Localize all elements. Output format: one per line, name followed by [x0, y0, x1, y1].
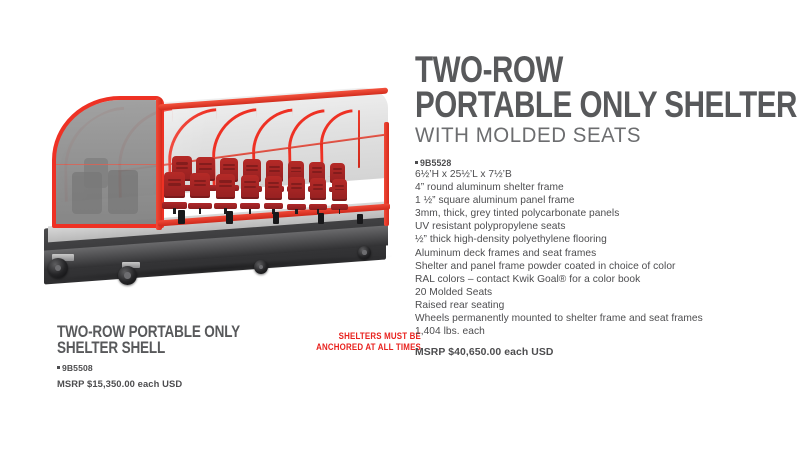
- anchoring-warning-line-2: ANCHORED AT ALL TIMES: [291, 342, 421, 353]
- seat-pedestal: [273, 212, 279, 224]
- shelter-seat: [216, 174, 235, 214]
- shell-caption-block: TWO-ROW PORTABLE ONLY SHELTER SHELL 9B55…: [57, 325, 307, 389]
- spec-item: 3mm, thick, grey tinted polycarbonate pa…: [415, 207, 790, 220]
- page-title: TWO-ROW PORTABLE ONLY SHELTER: [415, 52, 715, 122]
- shell-sku: 9B5508: [57, 363, 307, 373]
- caster-wheel: [48, 258, 68, 278]
- detail-sku: 9B5528: [415, 158, 790, 168]
- shell-caption-title-line-2: SHELTER SHELL: [57, 341, 262, 357]
- spec-item: 1,404 lbs. each: [415, 325, 790, 338]
- page-subtitle: WITH MOLDED SEATS: [415, 124, 771, 147]
- detail-sku-value: 9B5528: [420, 158, 451, 168]
- spec-item: Raised rear seating: [415, 299, 790, 312]
- shell-caption-title: TWO-ROW PORTABLE ONLY SHELTER SHELL: [57, 325, 262, 356]
- seat-pedestal: [178, 210, 185, 224]
- bullet-square-icon: [57, 366, 60, 369]
- shelter-seat: [190, 173, 210, 214]
- spec-item: 1 ½” square aluminum panel frame: [415, 194, 790, 207]
- shelter-post: [384, 122, 389, 226]
- spec-item: RAL colors – contact Kwik Goal® for a co…: [415, 273, 790, 286]
- canopy-seam-icon: [358, 110, 360, 168]
- detail-panel: TWO-ROW PORTABLE ONLY SHELTER WITH MOLDE…: [415, 52, 790, 358]
- shelter-seat: [288, 177, 305, 214]
- spec-item: ½” thick high-density polyethylene floor…: [415, 233, 790, 246]
- spec-item: 6½’H x 25½’L x 7½’B: [415, 168, 790, 181]
- anchoring-warning: SHELTERS MUST BE ANCHORED AT ALL TIMES: [291, 331, 421, 352]
- anchoring-warning-line-1: SHELTERS MUST BE: [291, 331, 421, 342]
- spec-item: Shelter and panel frame powder coated in…: [415, 260, 790, 273]
- spec-item: 20 Molded Seats: [415, 286, 790, 299]
- shelter-seat: [164, 172, 185, 214]
- seat-pedestal: [226, 211, 233, 224]
- seat-pedestal: [357, 214, 363, 224]
- spec-list: 6½’H x 25½’L x 7½’B 4” round aluminum sh…: [415, 168, 790, 338]
- product-photo: SHELTERS MUST BE ANCHORED AT ALL TIMES: [18, 88, 408, 288]
- spec-item: Aluminum deck frames and seat frames: [415, 247, 790, 260]
- shelter-shell: [44, 94, 392, 234]
- shelter-seat: [310, 178, 326, 214]
- bullet-square-icon: [415, 161, 418, 164]
- caster-wheel: [118, 266, 137, 285]
- caster-wheel: [358, 246, 371, 259]
- page-title-line-2: PORTABLE ONLY SHELTER: [415, 87, 715, 122]
- shelter-seat: [265, 176, 282, 214]
- spec-item: UV resistant polypropylene seats: [415, 220, 790, 233]
- shelter-seat: [241, 175, 259, 214]
- product-spec-page: SHELTERS MUST BE ANCHORED AT ALL TIMES T…: [0, 0, 800, 450]
- shelter-post: [156, 98, 162, 230]
- shell-sku-value: 9B5508: [62, 363, 93, 373]
- caster-wheel: [254, 260, 268, 274]
- shelter-seat: [332, 179, 347, 214]
- detail-msrp: MSRP $40,650.00 each USD: [415, 347, 790, 358]
- spec-item: Wheels permanently mounted to shelter fr…: [415, 312, 790, 325]
- spec-item: 4” round aluminum shelter frame: [415, 181, 790, 194]
- shell-msrp: MSRP $15,350.00 each USD: [57, 378, 307, 389]
- seat-pedestal: [318, 213, 324, 224]
